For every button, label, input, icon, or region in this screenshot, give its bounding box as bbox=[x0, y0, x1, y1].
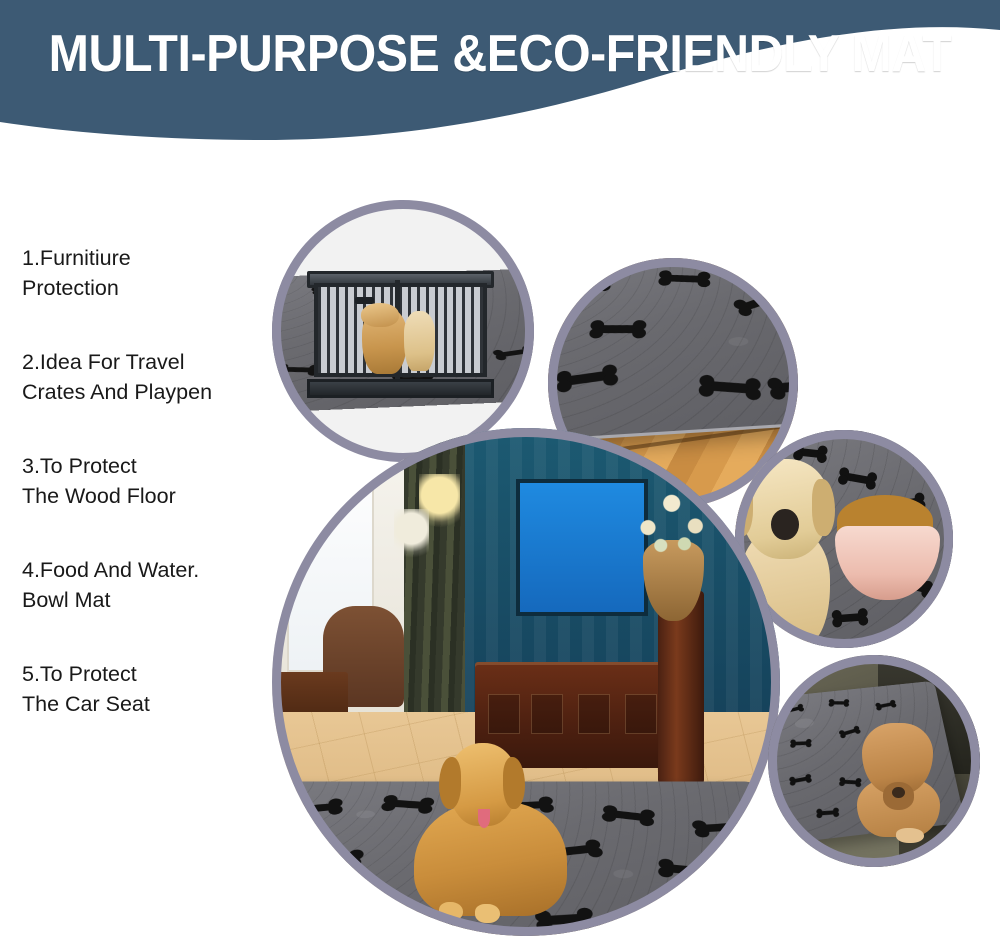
console-drawer bbox=[578, 694, 610, 735]
car-seat-scene bbox=[768, 655, 980, 867]
living-room-flower-arrangement bbox=[628, 479, 719, 560]
living-room-curtain bbox=[404, 428, 465, 723]
photo-collage bbox=[0, 0, 1000, 946]
living-room-dog bbox=[414, 743, 566, 916]
collage-photo-crate bbox=[272, 200, 534, 462]
wood-floor-mat bbox=[548, 258, 798, 445]
crate-scene bbox=[272, 200, 534, 462]
living-room-dog-ear-right bbox=[503, 757, 526, 809]
crate-base-tray bbox=[307, 379, 494, 398]
product-infographic: MULTI-PURPOSE &ECO-FRIENDLY MAT 1.Furnit… bbox=[0, 0, 1000, 946]
console-drawer bbox=[625, 694, 657, 735]
bone-pattern-icon bbox=[548, 258, 798, 441]
dog-crate bbox=[314, 271, 487, 392]
crate-dog-head bbox=[361, 303, 399, 327]
collage-photo-living-room bbox=[272, 428, 780, 936]
living-room-scene bbox=[272, 428, 780, 936]
living-room-table-lamp bbox=[394, 509, 430, 565]
living-room-dog-ear-left bbox=[439, 757, 462, 809]
console-drawer bbox=[488, 694, 520, 735]
living-room-dog-paw-left bbox=[439, 902, 463, 921]
collage-photo-car-seat bbox=[768, 655, 980, 867]
car-seat-puppy-paw bbox=[896, 828, 924, 843]
car-seat-puppy bbox=[853, 723, 946, 837]
console-drawer bbox=[531, 694, 563, 735]
food-bowl-dog-ear-right bbox=[812, 479, 835, 537]
living-room-dog-paw-right bbox=[475, 904, 499, 923]
crate-dog-second bbox=[404, 311, 435, 371]
